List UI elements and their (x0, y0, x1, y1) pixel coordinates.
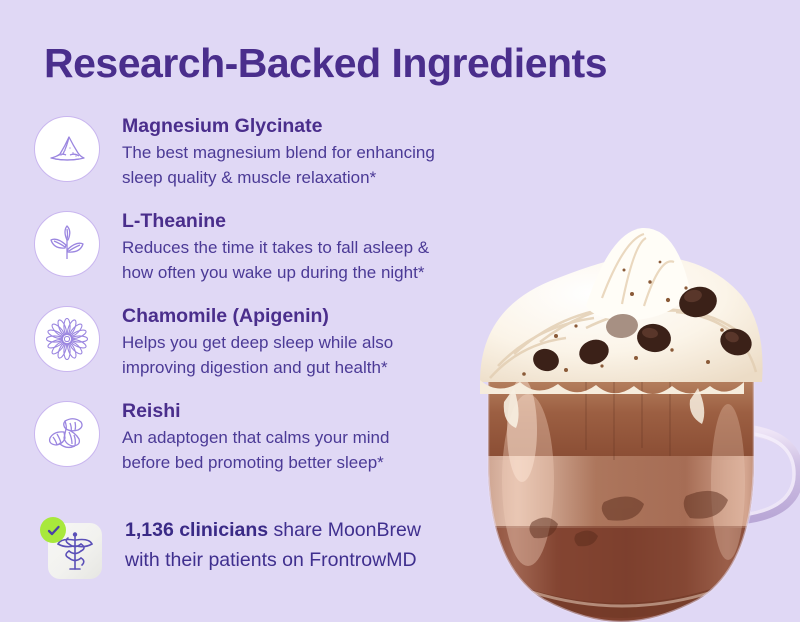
ingredient-text-block: Magnesium Glycinate The best magnesium b… (122, 112, 435, 191)
clinician-line-2: with their patients on FrontrowMD (125, 545, 421, 575)
clinician-badge (40, 517, 102, 579)
desc-line-2: how often you wake up during the night* (122, 261, 429, 286)
ingredient-item-l-theanine: L-Theanine Reduces the time it takes to … (34, 207, 474, 290)
ingredient-description: Helps you get deep sleep while also impr… (122, 331, 393, 380)
ingredient-name: Chamomile (Apigenin) (122, 303, 393, 329)
ingredient-name: Magnesium Glycinate (122, 113, 435, 139)
desc-line-1: Reduces the time it takes to fall asleep… (122, 236, 429, 261)
desc-line-2: improving digestion and gut health* (122, 356, 393, 381)
ingredient-item-chamomile-apigenin: Chamomile (Apigenin) Helps you get deep … (34, 302, 474, 385)
desc-line-2: sleep quality & muscle relaxation* (122, 166, 435, 191)
reishi-mushroom-icon (34, 401, 100, 467)
powder-mound-icon (34, 116, 100, 182)
ingredient-list: Magnesium Glycinate The best magnesium b… (34, 112, 474, 492)
clinician-count: 1,136 clinicians (125, 519, 268, 541)
ingredient-item-reishi: Reishi An adaptogen that calms your mind… (34, 397, 474, 480)
ingredient-name: Reishi (122, 398, 389, 424)
clinician-statement: 1,136 clinicians share MoonBrew with the… (125, 512, 421, 575)
desc-line-1: Helps you get deep sleep while also (122, 331, 393, 356)
desc-line-1: The best magnesium blend for enhancing (122, 141, 435, 166)
tea-leaf-icon (34, 211, 100, 277)
desc-line-2: before bed promoting better sleep* (122, 451, 389, 476)
ingredient-text-block: L-Theanine Reduces the time it takes to … (122, 207, 429, 286)
clinician-line-1: 1,136 clinicians share MoonBrew (125, 515, 421, 545)
ingredient-text-block: Reishi An adaptogen that calms your mind… (122, 397, 389, 476)
ingredient-description: An adaptogen that calms your mind before… (122, 426, 389, 475)
ingredient-description: Reduces the time it takes to fall asleep… (122, 236, 429, 285)
check-circle-icon (40, 517, 66, 543)
clinician-line-1-rest: share MoonBrew (268, 519, 421, 541)
infographic-canvas: Research-Backed Ingredients (0, 0, 800, 622)
page-title: Research-Backed Ingredients (44, 40, 607, 87)
ingredient-item-magnesium-glycinate: Magnesium Glycinate The best magnesium b… (34, 112, 474, 195)
daisy-flower-icon (34, 306, 100, 372)
product-photo-hot-cocoa-mug (436, 130, 800, 622)
ingredient-name: L-Theanine (122, 208, 429, 234)
ingredient-text-block: Chamomile (Apigenin) Helps you get deep … (122, 302, 393, 381)
clinician-proof-block: 1,136 clinicians share MoonBrew with the… (40, 512, 421, 579)
desc-line-1: An adaptogen that calms your mind (122, 426, 389, 451)
ingredient-description: The best magnesium blend for enhancing s… (122, 141, 435, 190)
